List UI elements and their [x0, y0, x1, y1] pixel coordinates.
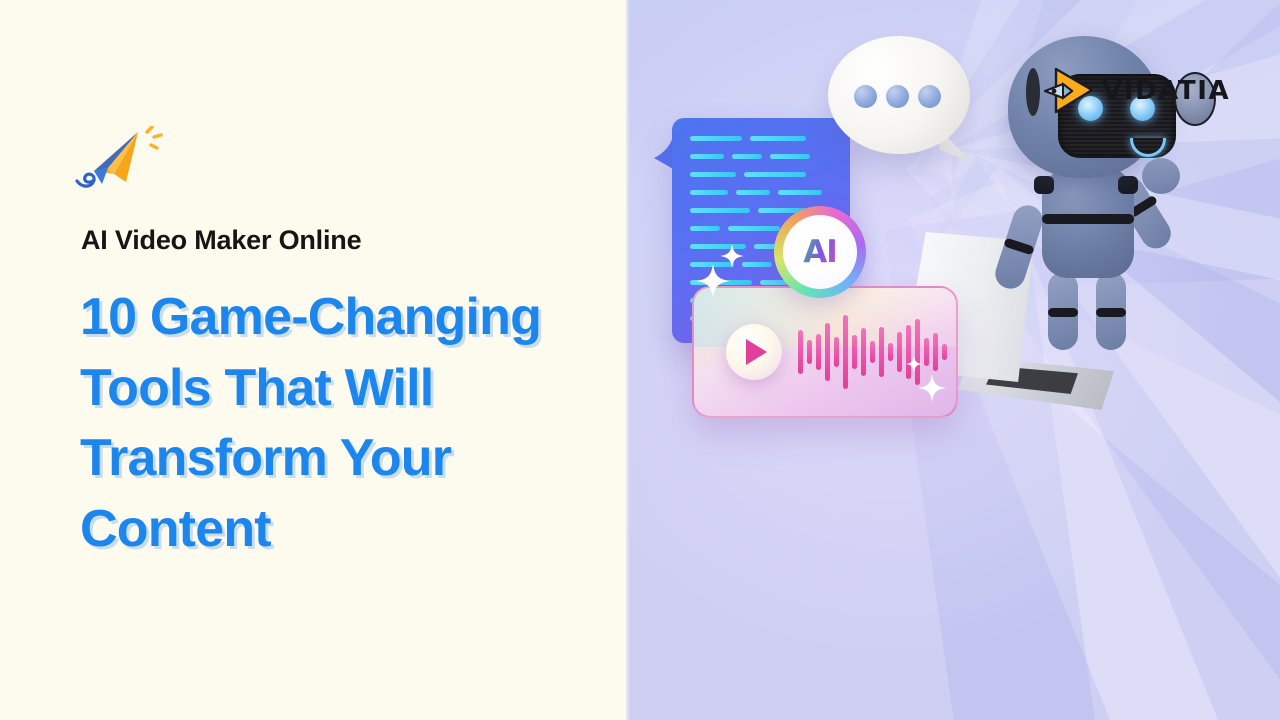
document-text-line	[732, 154, 762, 159]
play-rocket-logo-icon	[1042, 64, 1096, 118]
robot-shoulder	[1034, 176, 1054, 194]
waveform-bar	[825, 323, 830, 381]
ai-badge: AI	[774, 206, 866, 298]
document-text-line	[728, 226, 780, 231]
page-eyebrow: AI Video Maker Online	[81, 226, 601, 256]
robot-joint	[1096, 308, 1126, 317]
document-text-line	[744, 172, 806, 177]
slide-canvas: AI	[0, 0, 1280, 720]
waveform-bar	[933, 333, 938, 371]
waveform-bar	[834, 337, 839, 367]
paper-plane-icon	[68, 126, 164, 194]
waveform-bar	[942, 344, 947, 360]
brand-logo[interactable]: VIDATIA	[1042, 60, 1217, 122]
typing-dot	[918, 85, 941, 108]
robot-ear-left-icon	[1026, 68, 1040, 116]
waveform-bar	[843, 315, 848, 389]
document-text-line	[690, 136, 742, 141]
document-text-line	[742, 262, 772, 267]
waveform-bar	[861, 328, 866, 376]
waveform-bar	[924, 338, 929, 366]
typing-dot	[854, 85, 877, 108]
sparkle-icon	[696, 264, 730, 298]
document-text-line	[690, 208, 750, 213]
typing-speech-bubble	[828, 36, 970, 154]
document-text-line	[690, 226, 720, 231]
robot-smile-icon	[1130, 138, 1166, 157]
waveform-bar	[897, 332, 902, 372]
robot-shoulder	[1118, 176, 1138, 194]
typing-dot	[886, 85, 909, 108]
document-text-line	[736, 190, 770, 195]
waveform-bar	[798, 330, 803, 374]
waveform-bar	[852, 335, 857, 369]
waveform-bar	[870, 341, 875, 363]
robot-hand-right	[1142, 158, 1180, 194]
ai-badge-label: AI	[803, 234, 837, 270]
left-text-panel: AI Video Maker Online 10 Game-Changing T…	[0, 0, 626, 720]
document-text-line	[778, 190, 822, 195]
brand-name: VIDATIA	[1102, 76, 1230, 106]
sparkle-icon	[906, 356, 922, 372]
play-button[interactable]	[726, 324, 782, 380]
document-text-line	[770, 154, 810, 159]
play-icon	[746, 339, 767, 365]
waveform-bar	[888, 343, 893, 361]
document-text-line	[690, 190, 728, 195]
sparkle-icon	[720, 244, 744, 268]
robot-joint	[1048, 308, 1078, 317]
ai-badge-inner: AI	[783, 215, 857, 289]
page-title: 10 Game-Changing Tools That Will Transfo…	[80, 282, 600, 565]
document-text-line	[750, 136, 806, 141]
sparkle-icon	[918, 374, 946, 402]
waveform-bar	[879, 327, 884, 377]
document-text-line	[690, 154, 724, 159]
waveform-bar	[807, 340, 812, 364]
document-text-line	[690, 172, 736, 177]
waveform-bar	[816, 334, 821, 370]
robot-belt	[1042, 214, 1134, 224]
